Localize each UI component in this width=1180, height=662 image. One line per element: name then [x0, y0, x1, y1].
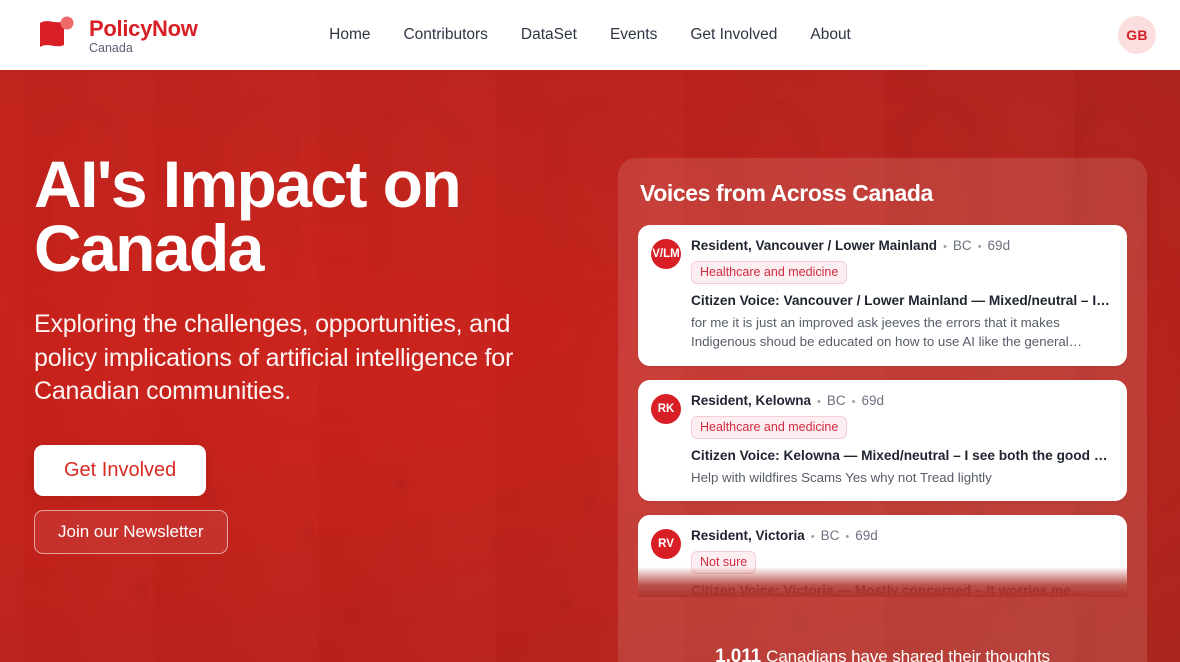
separator-dot: •: [817, 396, 821, 408]
voices-list: V/LM Resident, Vancouver / Lower Mainlan…: [638, 225, 1127, 597]
voice-meta: Resident, Victoria • BC • 69d: [691, 528, 1112, 543]
voices-panel-title: Voices from Across Canada: [640, 180, 1127, 207]
voices-footer-text: Canadians have shared their thoughts: [766, 647, 1050, 662]
nav-item-about[interactable]: About: [810, 26, 851, 44]
hero-content: AI's Impact on Canada Exploring the chal…: [34, 70, 634, 662]
user-avatar[interactable]: GB: [1118, 16, 1156, 54]
voice-author: Resident, Victoria: [691, 528, 805, 543]
nav-item-get-involved[interactable]: Get Involved: [690, 26, 777, 44]
voice-age: 69d: [862, 393, 885, 408]
voice-headline: Citizen Voice: Victoria — Mostly concern…: [691, 583, 1112, 597]
separator-dot: •: [978, 241, 982, 253]
nav-item-dataset[interactable]: DataSet: [521, 26, 577, 44]
voices-scroll-area[interactable]: V/LM Resident, Vancouver / Lower Mainlan…: [638, 225, 1127, 597]
voice-author: Resident, Vancouver / Lower Mainland: [691, 238, 937, 253]
voice-topic-tag[interactable]: Healthcare and medicine: [691, 261, 847, 284]
policy-book-logo-icon: [34, 15, 78, 55]
page-title: AI's Impact on Canada: [34, 152, 504, 280]
separator-dot: •: [852, 396, 856, 408]
nav-item-events[interactable]: Events: [610, 26, 657, 44]
voice-card[interactable]: V/LM Resident, Vancouver / Lower Mainlan…: [638, 225, 1127, 366]
voice-headline: Citizen Voice: Vancouver / Lower Mainlan…: [691, 293, 1112, 308]
voice-topic-tag[interactable]: Healthcare and medicine: [691, 416, 847, 439]
join-newsletter-button[interactable]: Join our Newsletter: [34, 510, 228, 554]
voice-card[interactable]: RK Resident, Kelowna • BC • 69d Healthca…: [638, 380, 1127, 501]
nav-item-contributors[interactable]: Contributors: [403, 26, 487, 44]
separator-dot: •: [943, 241, 947, 253]
separator-dot: •: [845, 531, 849, 543]
brand-name: PolicyNow: [89, 18, 198, 40]
voice-topic-tag[interactable]: Not sure: [691, 551, 756, 574]
voice-age: 69d: [855, 528, 878, 543]
voice-headline: Citizen Voice: Kelowna — Mixed/neutral –…: [691, 448, 1112, 463]
hero-actions: Get Involved Join our Newsletter: [34, 445, 634, 554]
voice-avatar: V/LM: [651, 239, 681, 269]
brand-logo[interactable]: PolicyNow Canada: [34, 15, 198, 55]
site-header: PolicyNow Canada Home Contributors DataS…: [0, 0, 1180, 70]
voices-footer: 1,011 Canadians have shared their though…: [618, 609, 1147, 662]
voices-panel: Voices from Across Canada V/LM Resident,…: [618, 158, 1147, 662]
get-involved-button[interactable]: Get Involved: [34, 445, 206, 496]
voice-avatar: RV: [651, 529, 681, 559]
voice-region: BC: [827, 393, 846, 408]
voice-snippet: for me it is just an improved ask jeeves…: [691, 313, 1112, 352]
voice-author: Resident, Kelowna: [691, 393, 811, 408]
voice-region: BC: [821, 528, 840, 543]
voice-avatar: RK: [651, 394, 681, 424]
brand-subtitle: Canada: [89, 42, 198, 55]
voice-snippet: Help with wildfires Scams Yes why not Tr…: [691, 468, 1112, 487]
hero-section: AI's Impact on Canada Exploring the chal…: [0, 70, 1180, 662]
voice-age: 69d: [988, 238, 1011, 253]
voices-count: 1,011: [715, 646, 761, 662]
hero-subtitle: Exploring the challenges, opportunities,…: [34, 308, 546, 409]
separator-dot: •: [811, 531, 815, 543]
voice-meta: Resident, Vancouver / Lower Mainland • B…: [691, 238, 1112, 253]
voice-region: BC: [953, 238, 972, 253]
voice-card[interactable]: RV Resident, Victoria • BC • 69d Not sur…: [638, 515, 1127, 597]
voice-meta: Resident, Kelowna • BC • 69d: [691, 393, 1112, 408]
nav-item-home[interactable]: Home: [329, 26, 370, 44]
